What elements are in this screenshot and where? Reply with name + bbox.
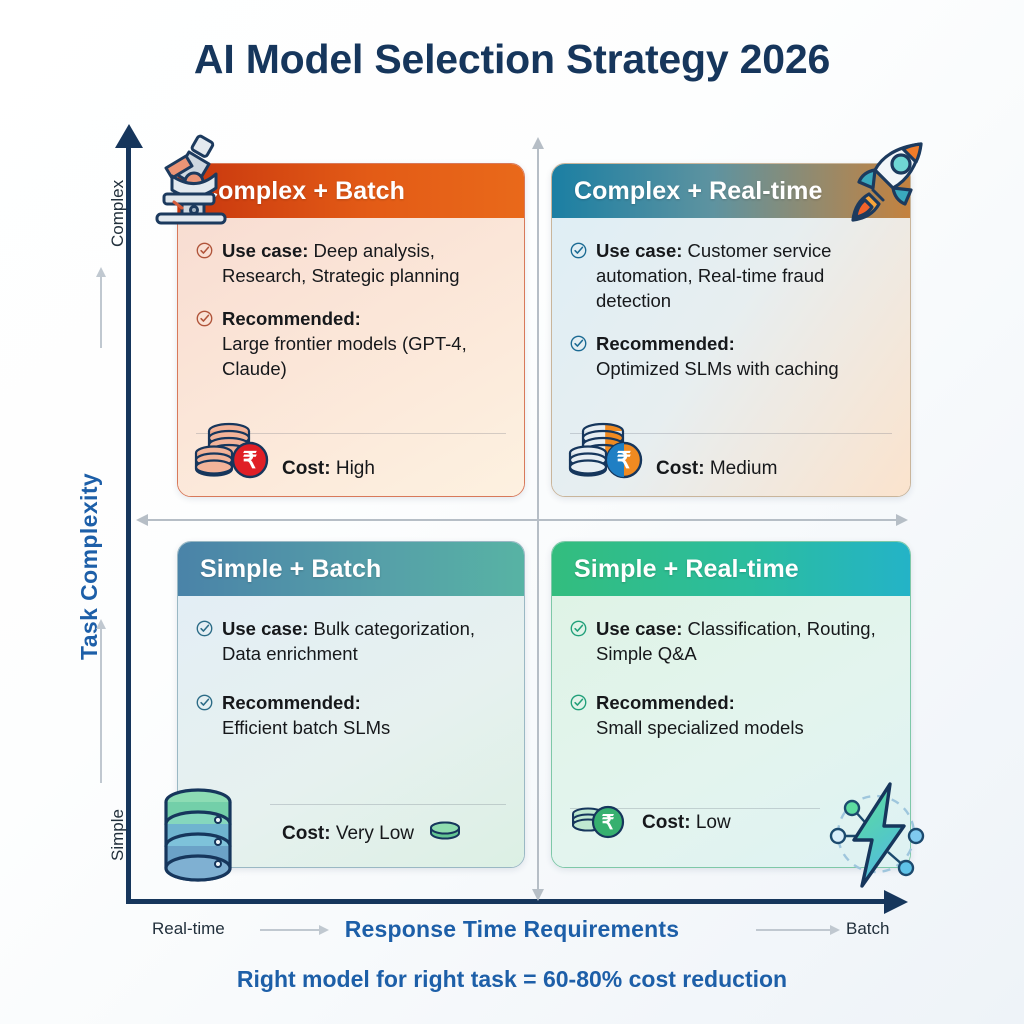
use-case-bullet: Use case: Classification, Routing, Simpl… [570, 616, 892, 666]
x-axis-arrowhead-icon [884, 890, 908, 914]
x-axis-line [126, 899, 889, 904]
check-circle-icon [570, 242, 587, 264]
recommended-label: Recommended: [222, 692, 361, 713]
cost-row: Cost: Very Low [270, 820, 506, 847]
cost-label: Cost: [656, 458, 705, 479]
quadrant-body-simple-realtime: Use case: Classification, Routing, Simpl… [552, 596, 910, 867]
recommended-bullet: Recommended:Efficient batch SLMs [196, 690, 506, 740]
y-axis-title: Task Complexity [76, 473, 103, 660]
use-case-bullet: Use case: Bulk categorization, Data enri… [196, 616, 506, 666]
cost-label: Cost: [642, 812, 691, 833]
check-circle-icon [570, 694, 587, 716]
vertical-quadrant-divider [537, 148, 539, 890]
quadrant-heading: Simple + Real-time [574, 555, 799, 584]
use-case-text: Use case: Customer service automation, R… [596, 238, 892, 313]
y-axis-line [126, 142, 131, 904]
cost-text: Cost: High [282, 458, 375, 480]
cost-text: Cost: Low [642, 812, 731, 834]
check-circle-icon [196, 620, 213, 642]
cost-row: Cost: Medium [570, 458, 892, 480]
x-axis-right-label: Batch [846, 919, 889, 939]
use-case-bullet: Use case: Deep analysis, Research, Strat… [196, 238, 506, 288]
footer-note: Right model for right task = 60-80% cost… [0, 966, 1024, 993]
quadrant-body-simple-batch: Use case: Bulk categorization, Data enri… [178, 596, 524, 867]
quadrant-card-complex-realtime[interactable]: Complex + Real-time Use case: Customer s… [551, 163, 911, 497]
svg-text:₹: ₹ [602, 812, 615, 834]
cost-value: High [336, 458, 375, 479]
cost-value: Low [696, 812, 731, 833]
recommended-text: Recommended:Efficient batch SLMs [222, 690, 390, 740]
recommended-text: Recommended:Optimized SLMs with caching [596, 331, 839, 381]
cost-label: Cost: [282, 823, 331, 844]
recommended-label: Recommended: [596, 692, 735, 713]
check-circle-icon [196, 694, 213, 716]
recommended-value: Large frontier models (GPT-4, Claude) [222, 333, 467, 379]
use-case-label: Use case: [596, 618, 682, 639]
y-axis-bottom-label: Simple [108, 809, 128, 861]
check-circle-icon [196, 310, 213, 332]
quadrant-header-simple-realtime: Simple + Real-time [552, 542, 910, 596]
cost-text: Cost: Very Low [282, 823, 414, 845]
cost-row: Cost: High [196, 458, 506, 480]
use-case-text: Use case: Classification, Routing, Simpl… [596, 616, 892, 666]
green-coin-icon [428, 820, 462, 847]
cost-value: Medium [710, 458, 778, 479]
quadrant-card-complex-batch[interactable]: Complex + Batch Use case: Deep analysis,… [177, 163, 525, 497]
recommended-bullet: Recommended:Large frontier models (GPT-4… [196, 306, 506, 381]
cost-divider [270, 804, 506, 805]
cost-divider [570, 433, 892, 434]
y-axis-arrowhead-icon [115, 124, 143, 148]
cost-label: Cost: [282, 458, 331, 479]
cost-row: ₹ Cost: Low [570, 800, 892, 845]
quadrant-card-simple-realtime[interactable]: Simple + Real-time Use case: Classificat… [551, 541, 911, 868]
x-axis-right-arrow-icon [756, 929, 831, 931]
check-circle-icon [570, 620, 587, 642]
use-case-label: Use case: [596, 240, 682, 261]
quadrant-heading: Complex + Batch [200, 177, 405, 206]
y-axis-lower-arrow-icon [100, 628, 102, 783]
coin-stack-rupee-green-icon: ₹ [570, 800, 632, 845]
recommended-bullet: Recommended:Small specialized models [570, 690, 892, 740]
recommended-value: Optimized SLMs with caching [596, 358, 839, 379]
recommended-value: Efficient batch SLMs [222, 717, 390, 738]
x-axis-left-label: Real-time [152, 919, 225, 939]
x-axis-left-arrow-icon [260, 929, 320, 931]
cost-divider [196, 433, 506, 434]
recommended-text: Recommended:Large frontier models (GPT-4… [222, 306, 506, 381]
y-axis-upper-arrow-icon [100, 276, 102, 348]
recommended-label: Recommended: [596, 333, 735, 354]
page-title: AI Model Selection Strategy 2026 [0, 36, 1024, 83]
cost-text: Cost: Medium [656, 458, 777, 480]
use-case-text: Use case: Bulk categorization, Data enri… [222, 616, 506, 666]
quadrant-card-simple-batch[interactable]: Simple + Batch Use case: Bulk categoriza… [177, 541, 525, 868]
quadrant-header-complex-batch: Complex + Batch [178, 164, 524, 218]
use-case-bullet: Use case: Customer service automation, R… [570, 238, 892, 313]
check-circle-icon [196, 242, 213, 264]
recommended-text: Recommended:Small specialized models [596, 690, 804, 740]
recommended-bullet: Recommended:Optimized SLMs with caching [570, 331, 892, 381]
cost-value: Very Low [336, 823, 414, 844]
y-axis-top-label: Complex [108, 180, 128, 247]
recommended-label: Recommended: [222, 308, 361, 329]
use-case-label: Use case: [222, 618, 308, 639]
quadrant-heading: Simple + Batch [200, 555, 381, 584]
check-circle-icon [570, 335, 587, 357]
horizontal-quadrant-divider [146, 519, 898, 521]
quadrant-header-complex-realtime: Complex + Real-time [552, 164, 910, 218]
use-case-label: Use case: [222, 240, 308, 261]
use-case-text: Use case: Deep analysis, Research, Strat… [222, 238, 506, 288]
quadrant-heading: Complex + Real-time [574, 177, 823, 206]
quadrant-body-complex-batch: Use case: Deep analysis, Research, Strat… [178, 218, 524, 496]
quadrant-header-simple-batch: Simple + Batch [178, 542, 524, 596]
quadrant-body-complex-realtime: Use case: Customer service automation, R… [552, 218, 910, 496]
recommended-value: Small specialized models [596, 717, 804, 738]
